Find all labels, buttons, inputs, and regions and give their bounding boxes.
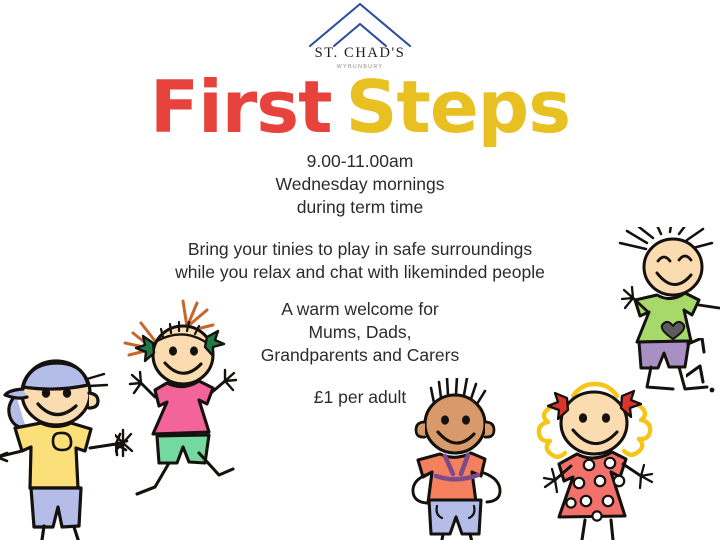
welcome-text: A warm welcome for Mums, Dads, Grandpare… xyxy=(0,298,720,367)
session-times-text: 9.00-11.00am Wednesday mornings during t… xyxy=(0,150,720,219)
logo-name: ST. CHAD'S xyxy=(0,46,720,61)
church-roof-icon xyxy=(304,2,416,48)
title-word-first: First xyxy=(150,65,332,149)
price-text: £1 per adult xyxy=(0,386,720,409)
poster-canvas: ST. CHAD'S WYBUNBURY FirstSteps 9.00-11.… xyxy=(0,0,720,540)
invitation-text: Bring your tinies to play in safe surrou… xyxy=(0,238,720,284)
church-logo: ST. CHAD'S WYBUNBURY xyxy=(0,2,720,70)
title-word-steps: Steps xyxy=(346,65,571,149)
page-title: FirstSteps xyxy=(0,68,720,146)
